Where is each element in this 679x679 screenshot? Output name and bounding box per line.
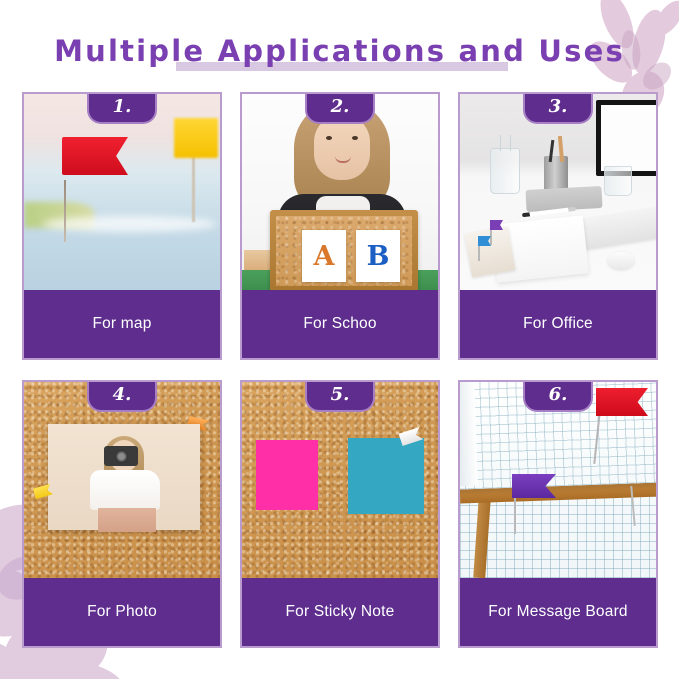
card-number-badge: 5. bbox=[305, 382, 375, 412]
student-eye-left bbox=[326, 136, 332, 140]
pink-sticky-note bbox=[256, 440, 318, 510]
application-card-for-photo[interactable]: 4. For Photo bbox=[22, 380, 222, 648]
keyboard bbox=[574, 207, 656, 250]
card-number-badge: 6. bbox=[523, 382, 593, 412]
photo-subject-blouse bbox=[90, 470, 160, 510]
card-label: For Photo bbox=[87, 603, 157, 621]
application-card-for-office[interactable]: 3. For Office bbox=[458, 92, 658, 360]
application-card-grid: 1. For map bbox=[22, 92, 658, 652]
pencil bbox=[558, 136, 564, 162]
card-label-bar: For Message Board bbox=[460, 578, 656, 646]
card-label: For Message Board bbox=[488, 603, 628, 621]
card-label-bar: For Schoo bbox=[242, 290, 438, 358]
teal-sticky-note bbox=[348, 438, 424, 514]
red-flag-pin-needle bbox=[64, 180, 66, 242]
held-corkboard-frame: A B bbox=[270, 210, 418, 290]
card-photo-school: A B 2. bbox=[242, 94, 438, 290]
card-number-badge: 2. bbox=[305, 94, 375, 124]
card-label-bar: For Photo bbox=[24, 578, 220, 646]
water-carafe bbox=[490, 148, 520, 194]
card-number-text: 2. bbox=[331, 98, 350, 116]
card-photo-map: 1. bbox=[24, 94, 220, 290]
held-corkboard-surface: A B bbox=[276, 216, 412, 286]
photo-subject-skirt bbox=[98, 508, 156, 532]
application-card-for-sticky-note[interactable]: 5. For Sticky Note bbox=[240, 380, 440, 648]
application-card-for-school[interactable]: A B 2. For Schoo bbox=[240, 92, 440, 360]
student-eye-right bbox=[352, 136, 358, 140]
letter-card-a: A bbox=[302, 230, 346, 282]
card-label: For map bbox=[92, 315, 151, 333]
card-label: For Schoo bbox=[303, 315, 376, 333]
camera-icon bbox=[104, 446, 138, 466]
letter-card-b: B bbox=[356, 230, 400, 282]
card-photo-office: 3. bbox=[460, 94, 656, 290]
blue-flag-pin-needle bbox=[478, 245, 480, 261]
card-photo-photo: 4. bbox=[24, 382, 220, 578]
card-label: For Office bbox=[523, 315, 593, 333]
page-title: Multiple Applications and Uses bbox=[0, 34, 679, 68]
application-card-for-map[interactable]: 1. For map bbox=[22, 92, 222, 360]
monitor bbox=[596, 100, 656, 176]
card-number-text: 5. bbox=[331, 386, 350, 404]
yellow-flag-pin-icon bbox=[174, 118, 218, 158]
card-number-text: 1. bbox=[113, 98, 132, 116]
purple-flag-pin-needle bbox=[514, 494, 516, 534]
card-number-text: 3. bbox=[549, 98, 568, 116]
card-photo-sticky-note: 5. bbox=[242, 382, 438, 578]
card-number-badge: 3. bbox=[523, 94, 593, 124]
mouse bbox=[608, 252, 634, 269]
monitor-screen bbox=[601, 105, 656, 171]
application-card-for-message-board[interactable]: 6. For Message Board bbox=[458, 380, 658, 648]
infographic-root: Multiple Applications and Uses 1. F bbox=[0, 0, 679, 679]
card-number-badge: 4. bbox=[87, 382, 157, 412]
map-water-streak bbox=[42, 216, 217, 232]
pinned-photo-print bbox=[48, 424, 200, 530]
card-label-bar: For Sticky Note bbox=[242, 578, 438, 646]
card-photo-message-board: 6. bbox=[460, 382, 656, 578]
red-flag-pin-icon bbox=[62, 137, 128, 175]
page-title-block: Multiple Applications and Uses bbox=[0, 34, 679, 80]
drinking-glass bbox=[604, 166, 632, 196]
card-number-badge: 1. bbox=[87, 94, 157, 124]
card-number-text: 6. bbox=[549, 386, 568, 404]
card-number-text: 4. bbox=[113, 386, 132, 404]
card-label-bar: For map bbox=[24, 290, 220, 358]
card-label-bar: For Office bbox=[460, 290, 656, 358]
card-label: For Sticky Note bbox=[286, 603, 395, 621]
